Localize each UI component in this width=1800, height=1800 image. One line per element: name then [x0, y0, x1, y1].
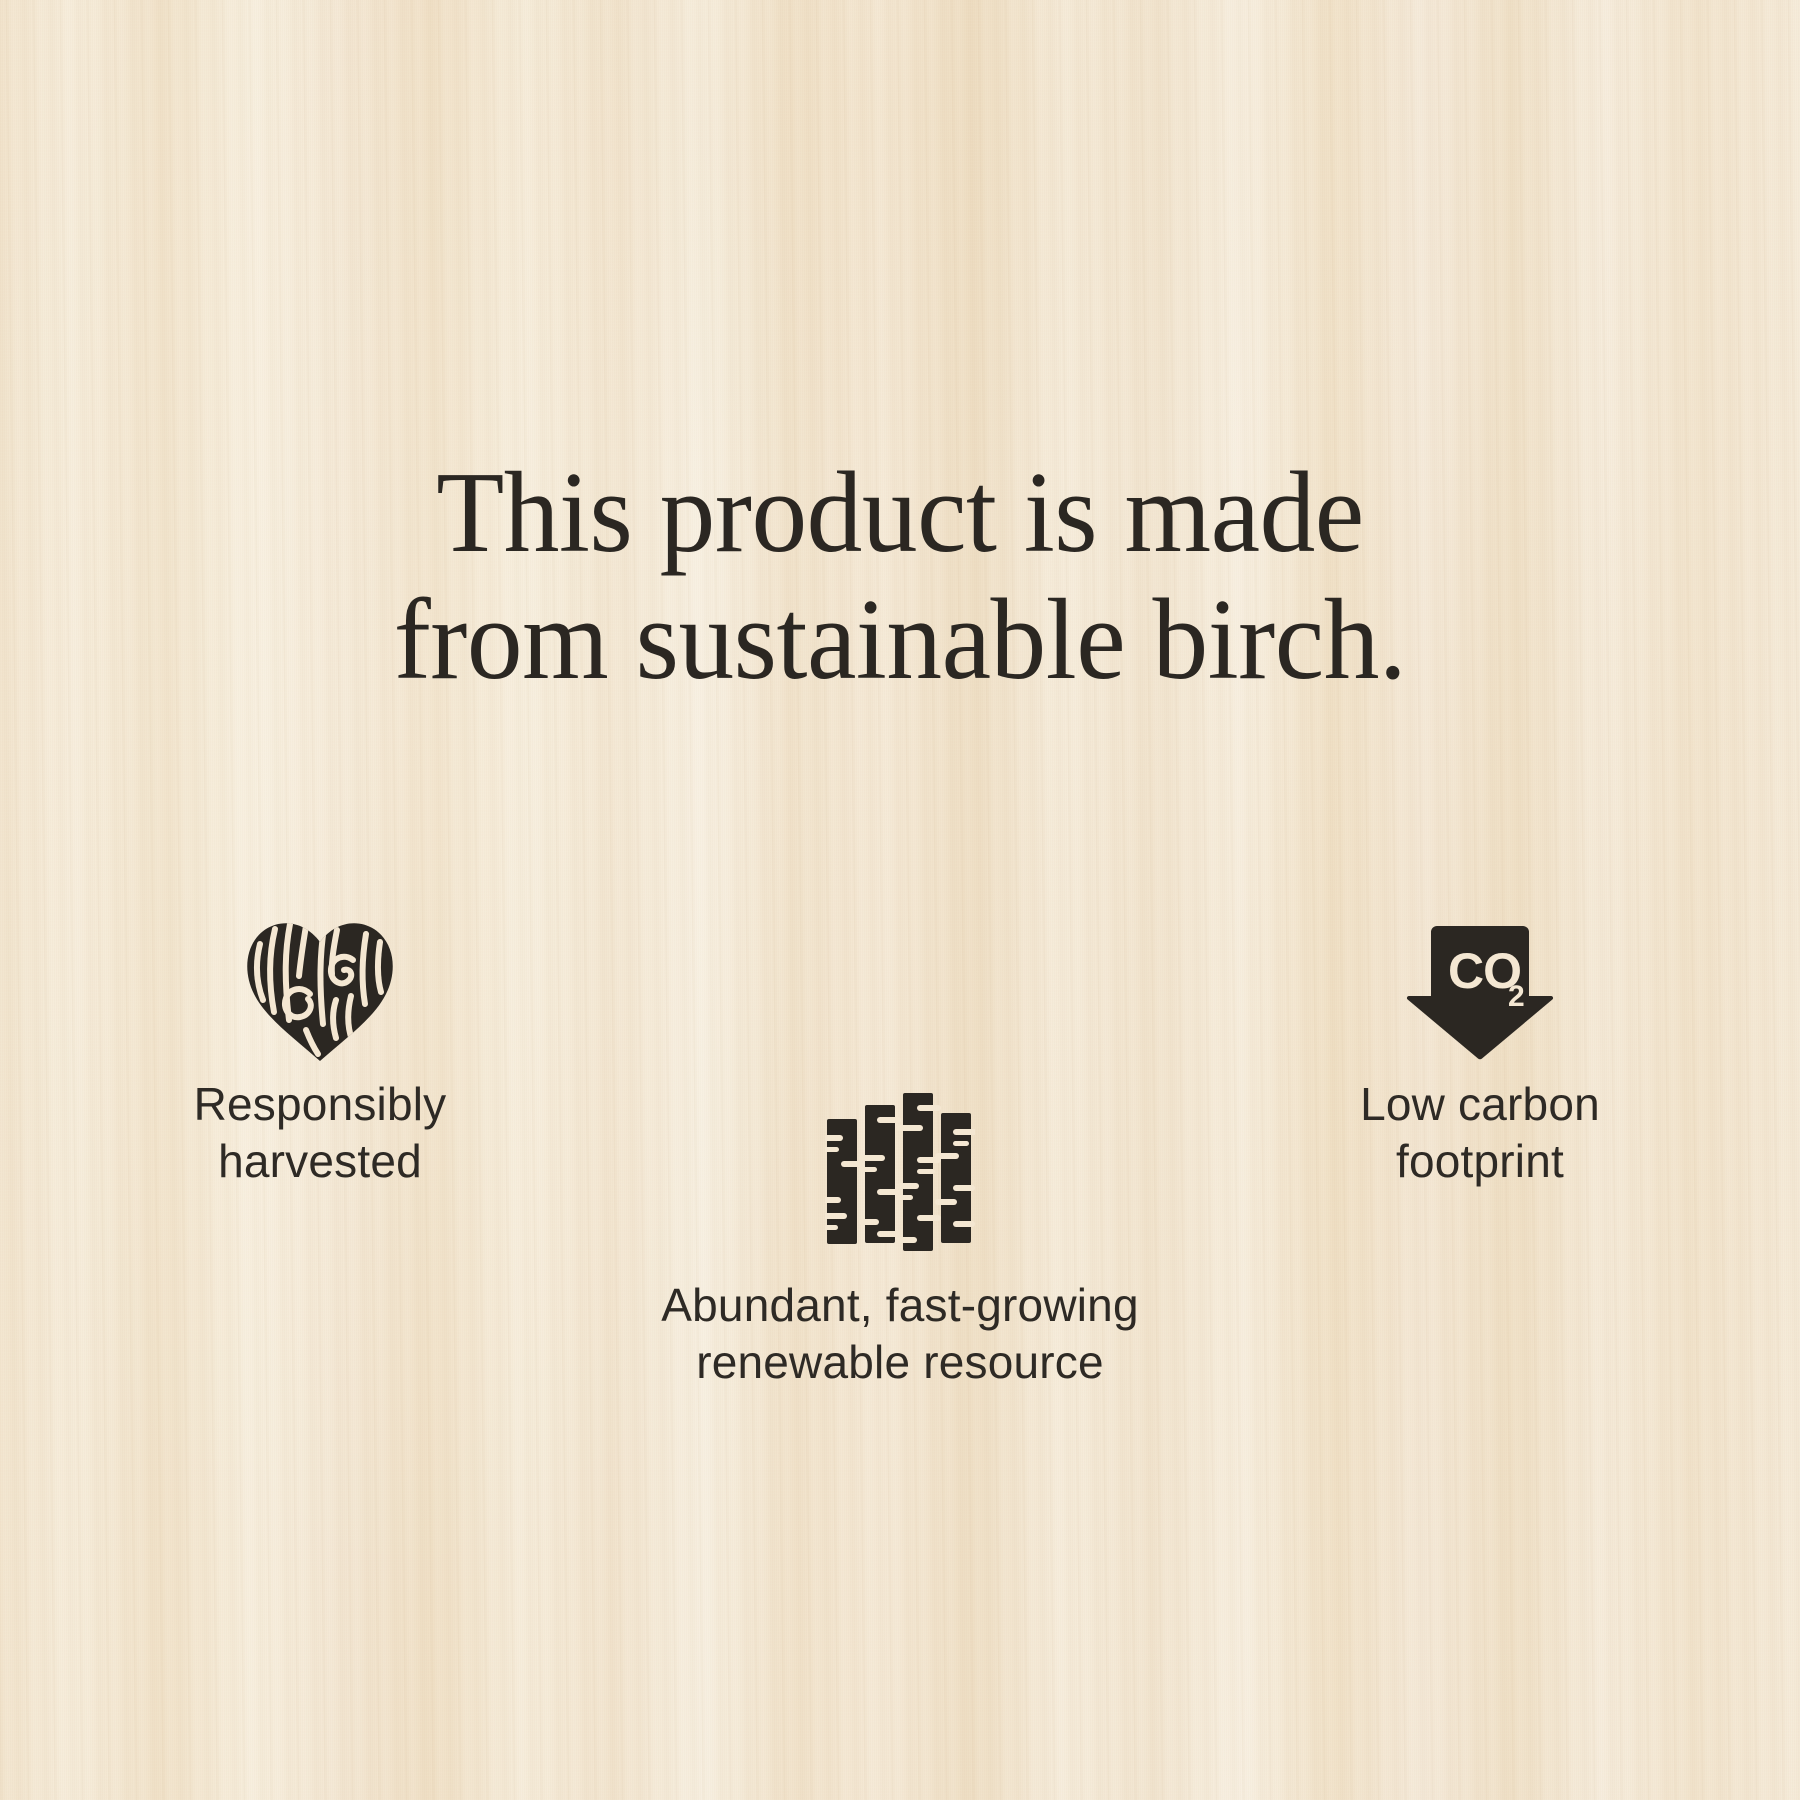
wood-grain-heart-icon [244, 920, 396, 1062]
feature-caption: Responsibly harvested [100, 1076, 540, 1190]
feature-caption: Abundant, fast-growing renewable resourc… [630, 1277, 1170, 1391]
birch-trees-icon [825, 1091, 975, 1253]
icon-container: CO 2 [1260, 912, 1700, 1062]
feature-low-carbon-footprint: CO 2 Low carbon footprint [1260, 912, 1700, 1190]
co2-label-subscript: 2 [1508, 980, 1525, 1013]
icon-container [100, 912, 540, 1062]
feature-responsibly-harvested: Responsibly harvested [100, 912, 540, 1190]
feature-caption: Low carbon footprint [1260, 1076, 1700, 1190]
panel-content: This product is made from sustainable bi… [0, 0, 1800, 1800]
birch-wood-panel: This product is made from sustainable bi… [0, 0, 1800, 1800]
co2-down-arrow-icon: CO 2 [1404, 922, 1556, 1062]
feature-renewable-resource: Abundant, fast-growing renewable resourc… [630, 1075, 1170, 1391]
icon-container [630, 1075, 1170, 1253]
page-title: This product is made from sustainable bi… [36, 450, 1764, 705]
